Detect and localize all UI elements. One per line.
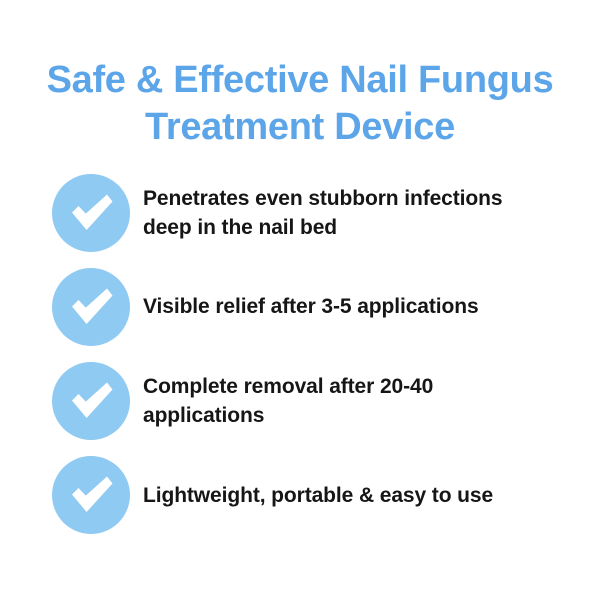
check-circle-icon	[52, 456, 130, 534]
list-item: Visible relief after 3-5 applications	[52, 259, 552, 354]
benefits-list: Penetrates even stubborn infections deep…	[52, 166, 552, 542]
list-item-label-line-2: deep in the nail bed	[143, 213, 552, 242]
list-item: Penetrates even stubborn infections deep…	[52, 166, 552, 259]
list-item-label-line-1: Penetrates even stubborn infections	[143, 184, 552, 213]
promo-feature-card: Safe & Effective Nail Fungus Treatment D…	[0, 0, 600, 600]
page-title-line-2: Treatment Device	[0, 104, 600, 151]
page-title-line-1: Safe & Effective Nail Fungus	[0, 57, 600, 104]
check-circle-icon	[52, 268, 130, 346]
list-item-label: Penetrates even stubborn infections deep…	[143, 184, 552, 242]
list-item-label-line-1: Lightweight, portable & easy to use	[143, 481, 552, 510]
check-circle-icon	[52, 362, 130, 440]
list-item-label: Visible relief after 3-5 applications	[143, 292, 552, 321]
list-item-label: Lightweight, portable & easy to use	[143, 481, 552, 510]
page-title: Safe & Effective Nail Fungus Treatment D…	[0, 57, 600, 151]
list-item-label-line-2: applications	[143, 401, 552, 430]
list-item: Complete removal after 20-40 application…	[52, 354, 552, 448]
list-item-label: Complete removal after 20-40 application…	[143, 372, 552, 430]
list-item: Lightweight, portable & easy to use	[52, 448, 552, 542]
list-item-label-line-1: Complete removal after 20-40	[143, 372, 552, 401]
check-circle-icon	[52, 174, 130, 252]
list-item-label-line-1: Visible relief after 3-5 applications	[143, 292, 552, 321]
